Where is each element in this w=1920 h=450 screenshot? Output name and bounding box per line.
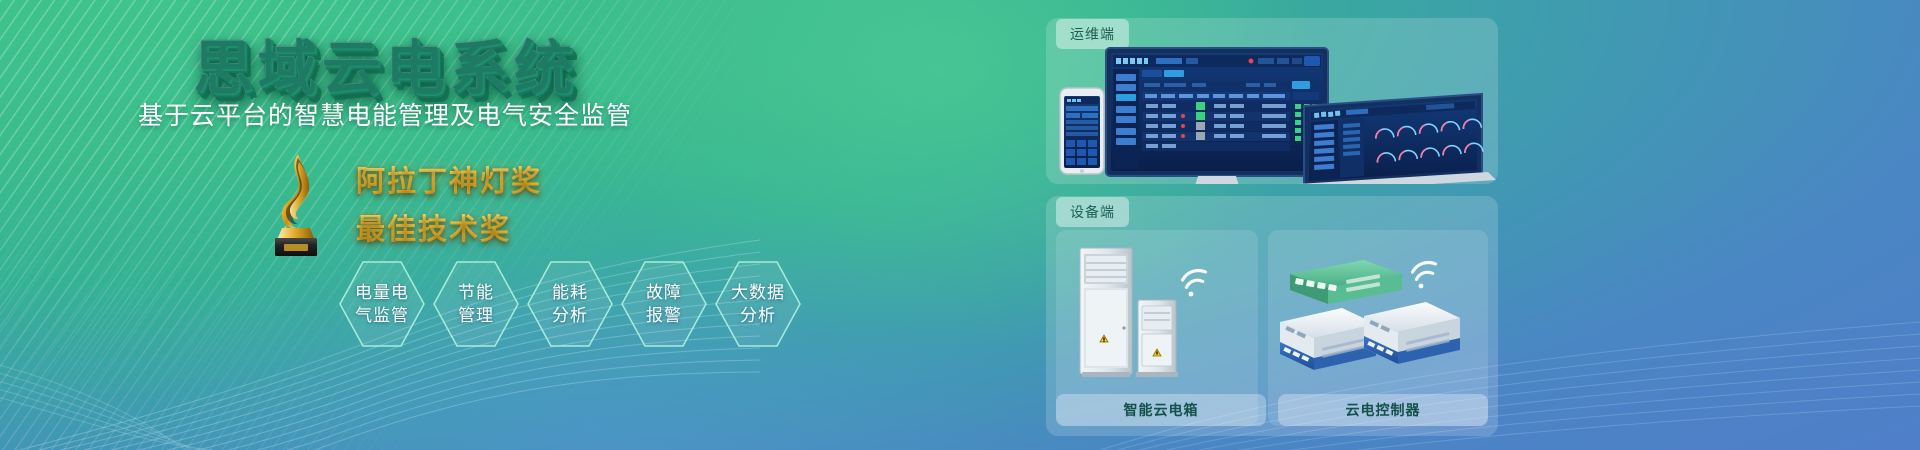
cloud-power-controller-unit-2 bbox=[1364, 302, 1460, 364]
award-category: 最佳技术奖 bbox=[356, 206, 542, 248]
feature-tag-line1: 大数据 bbox=[731, 281, 785, 304]
desktop-monitor-mockup bbox=[1106, 48, 1328, 184]
award-text: 阿拉丁神灯奖 最佳技术奖 bbox=[356, 158, 542, 248]
page-subtitle: 基于云平台的智慧电能管理及电气安全监管 bbox=[0, 96, 770, 132]
feature-tag-line1: 节能 bbox=[458, 281, 494, 304]
trophy-icon bbox=[258, 148, 330, 258]
feature-tag-1[interactable]: 节能 管理 bbox=[430, 258, 522, 350]
feature-tag-2[interactable]: 能耗 分析 bbox=[524, 258, 616, 350]
feature-tag-4[interactable]: 大数据 分析 bbox=[712, 258, 804, 350]
award-name: 阿拉丁神灯奖 bbox=[356, 158, 542, 200]
banner-left-content: 思域云电系统 基于云平台的智慧电能管理及电气安全监管 bbox=[0, 0, 980, 450]
feature-tag-list: 电量电 气监管 节能 管理 能耗 分析 bbox=[336, 258, 804, 350]
feature-tag-label: 电量电 气监管 bbox=[355, 281, 409, 327]
device-caption-row: 智能云电箱 云电控制器 bbox=[1056, 394, 1488, 426]
operations-device-group bbox=[1046, 44, 1498, 184]
smartphone-mockup bbox=[1060, 88, 1104, 174]
feature-tag-label: 能耗 分析 bbox=[552, 281, 588, 327]
feature-tag-3[interactable]: 故障 报警 bbox=[618, 258, 710, 350]
feature-tag-line2: 分析 bbox=[552, 304, 588, 327]
panel-operations: 运维端 bbox=[1046, 18, 1498, 184]
feature-tag-line1: 电量电 bbox=[355, 281, 409, 304]
banner-right-content: 运维端 bbox=[1046, 18, 1498, 436]
feature-tag-label: 大数据 分析 bbox=[731, 281, 785, 327]
feature-tag-0[interactable]: 电量电 气监管 bbox=[336, 258, 428, 350]
feature-tag-line2: 气监管 bbox=[355, 304, 409, 327]
wifi-icon bbox=[1181, 269, 1206, 296]
feature-tag-line2: 报警 bbox=[646, 304, 682, 327]
page-title: 思域云电系统 bbox=[0, 20, 770, 107]
cloud-power-controller-unit-1 bbox=[1280, 308, 1376, 370]
cloud-power-controller-green bbox=[1290, 260, 1402, 304]
smart-cloud-power-cabinet bbox=[1080, 248, 1132, 377]
feature-tag-line2: 管理 bbox=[458, 304, 494, 327]
feature-tag-line2: 分析 bbox=[731, 304, 785, 327]
feature-tag-label: 故障 报警 bbox=[646, 281, 682, 327]
promo-banner: 思域云电系统 基于云平台的智慧电能管理及电气安全监管 bbox=[0, 0, 1920, 450]
feature-tag-line1: 能耗 bbox=[552, 281, 588, 304]
panel-devices-tag: 设备端 bbox=[1056, 197, 1129, 227]
device-caption-cabinet: 智能云电箱 bbox=[1056, 394, 1266, 426]
smart-cloud-power-cabinet-small bbox=[1136, 300, 1178, 377]
panel-devices: 设备端 bbox=[1046, 196, 1498, 436]
device-caption-controller: 云电控制器 bbox=[1278, 394, 1488, 426]
award-section: 阿拉丁神灯奖 最佳技术奖 bbox=[0, 148, 800, 258]
feature-tag-label: 节能 管理 bbox=[458, 281, 494, 327]
feature-tag-line1: 故障 bbox=[646, 281, 682, 304]
wifi-icon bbox=[1411, 261, 1436, 288]
laptop-mockup bbox=[1298, 94, 1496, 184]
